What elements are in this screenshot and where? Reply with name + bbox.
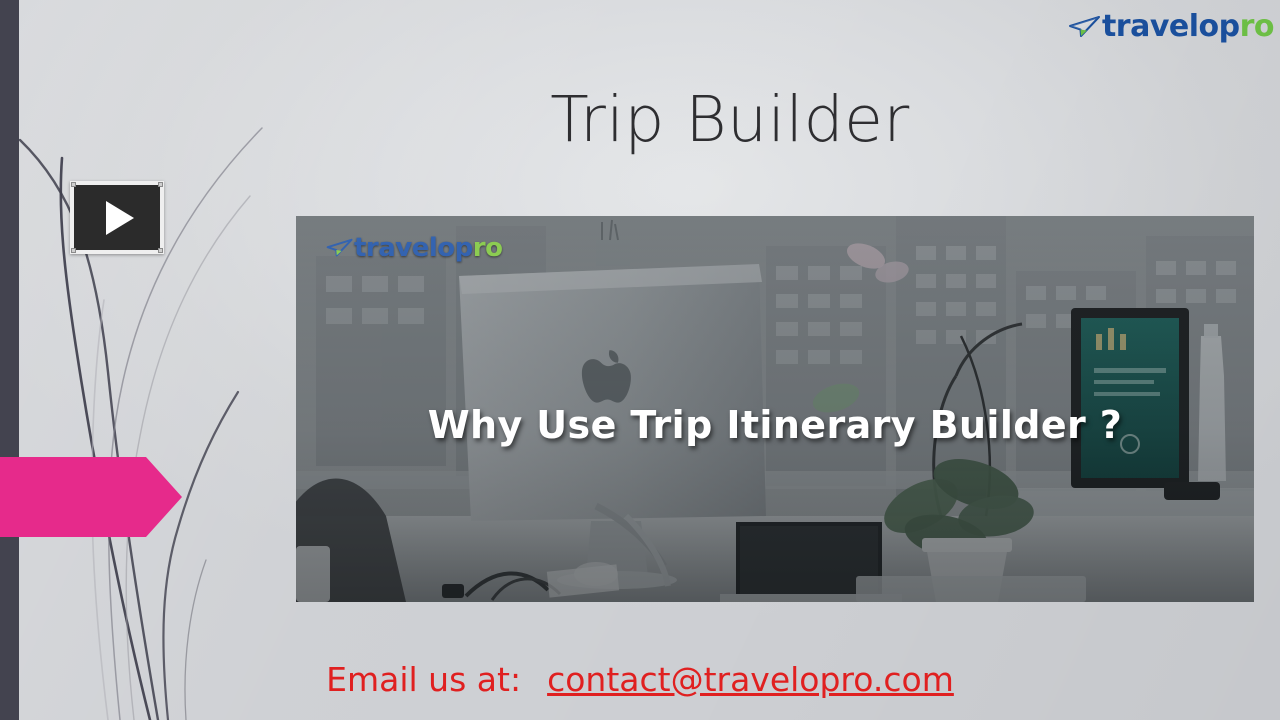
logo-wordmark-accent: ro — [1240, 9, 1274, 44]
paper-plane-icon — [326, 237, 354, 259]
travelopro-logo: travelopro — [1068, 10, 1274, 44]
selection-handle-bottom-right[interactable] — [158, 248, 163, 253]
logo-wordmark-primary: travelop — [1102, 9, 1240, 44]
play-triangle-icon — [106, 201, 134, 235]
footer-contact: Email us at:contact@travelopro.com — [0, 660, 1280, 699]
selection-handle-top-right[interactable] — [158, 182, 163, 187]
pink-arrow-shape — [0, 455, 184, 539]
video-thumbnail[interactable]: travelopro Why Use Trip Itinerary Builde… — [296, 216, 1254, 602]
page-title: Trip Builder — [0, 83, 1280, 156]
selection-handle-top-left[interactable] — [71, 182, 76, 187]
email-link[interactable]: contact@travelopro.com — [547, 660, 954, 699]
video-watermark-text: travelopro — [354, 233, 502, 263]
logo-wordmark: travelopro — [1102, 12, 1274, 42]
video-watermark-primary: travelop — [354, 233, 473, 263]
selection-handle-bottom-left[interactable] — [71, 248, 76, 253]
paper-plane-icon — [1068, 14, 1102, 40]
video-caption: Why Use Trip Itinerary Builder ? — [296, 403, 1254, 447]
email-label: Email us at: — [326, 660, 521, 699]
slide-canvas: travelopro Trip Builder — [0, 0, 1280, 720]
video-watermark-logo: travelopro — [326, 233, 502, 263]
video-watermark-accent: ro — [473, 233, 503, 263]
play-video-button[interactable] — [70, 181, 164, 254]
